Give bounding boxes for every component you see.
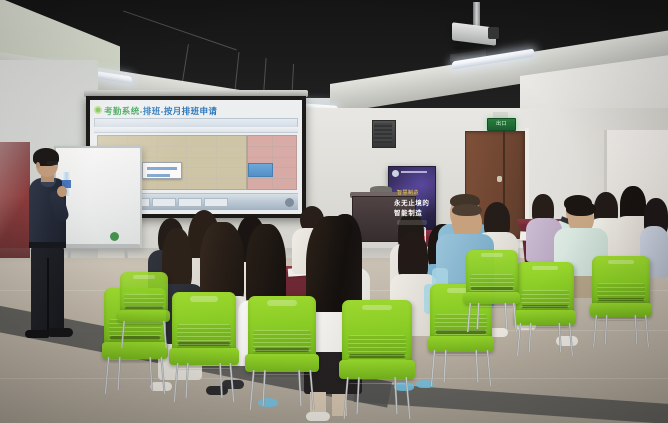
projector-lens-icon	[488, 27, 499, 39]
grid-cell	[187, 168, 216, 178]
slide-app-subtoolbar	[94, 127, 298, 133]
grid-cell	[217, 179, 246, 189]
speaker-grille	[374, 123, 392, 143]
presenter-shoe	[25, 330, 49, 338]
weekend-cell	[273, 147, 297, 157]
presenter-glasses	[47, 161, 58, 165]
presenter-ear	[36, 162, 40, 168]
weekend-cell	[248, 147, 272, 157]
weekend-cell	[248, 179, 272, 189]
banner-glare	[0, 142, 30, 260]
slide-title: 考勤系统-排班-按月排班申请	[104, 105, 217, 117]
grid-cell	[217, 158, 246, 168]
grid-cell	[187, 179, 216, 189]
chair[interactable]	[342, 300, 412, 416]
banner-line-3: 智能制造	[394, 207, 422, 217]
banner-line-1: 智慧制造	[397, 189, 419, 196]
presenter-hand	[57, 186, 67, 197]
grid-cell	[187, 158, 216, 168]
slide-bullet-icon	[94, 106, 102, 114]
chair[interactable]	[120, 272, 168, 346]
banner-footer-bar	[397, 220, 427, 225]
chair[interactable]	[248, 296, 316, 408]
exit-sign: 出口	[487, 118, 516, 131]
grid-cell	[217, 136, 246, 146]
chair[interactable]	[172, 292, 236, 400]
whiteboard-marker-dot	[110, 232, 119, 241]
door-handle[interactable]	[497, 176, 502, 182]
whiteboard	[54, 146, 142, 248]
banner-header-line	[401, 171, 427, 173]
grid-cell	[158, 136, 187, 146]
weekend-cell	[273, 168, 297, 178]
presenter-belt	[29, 242, 66, 248]
grid-cell	[217, 168, 246, 178]
grid-cell	[187, 136, 216, 146]
banner-logo-icon	[392, 170, 399, 177]
slide-title-prefix: 考勤系统	[104, 106, 140, 116]
banner-line-2: 永无止境的	[394, 197, 430, 207]
exit-sign-text: 出口	[488, 119, 515, 130]
attendee-shoe	[306, 412, 330, 421]
presenter-leg-seam	[47, 258, 49, 330]
tooltip-popup	[142, 162, 182, 179]
weekend-cell	[248, 136, 272, 146]
slide-footer-logo	[285, 198, 294, 207]
chair[interactable]	[516, 262, 574, 354]
weekend-cell	[273, 136, 297, 146]
classroom-scene: 考勤系统-排班-按月排班申请	[0, 0, 668, 423]
grid-cell	[158, 179, 187, 189]
chair[interactable]	[466, 250, 518, 330]
chair[interactable]	[592, 256, 650, 346]
weekend-cell	[273, 158, 297, 168]
selected-shift-cell	[248, 163, 273, 177]
presenter-shoe	[49, 328, 73, 337]
grid-cell	[187, 147, 216, 157]
grid-cell	[158, 147, 187, 157]
grid-cell	[128, 136, 157, 146]
grid-cell	[98, 136, 127, 146]
projector-shadow	[455, 46, 501, 55]
grid-cell	[217, 147, 246, 157]
slide-title-suffix: 按月排班申请	[164, 106, 217, 116]
weekend-cell	[273, 179, 297, 189]
slide-title-mid: -排班-	[140, 106, 164, 116]
